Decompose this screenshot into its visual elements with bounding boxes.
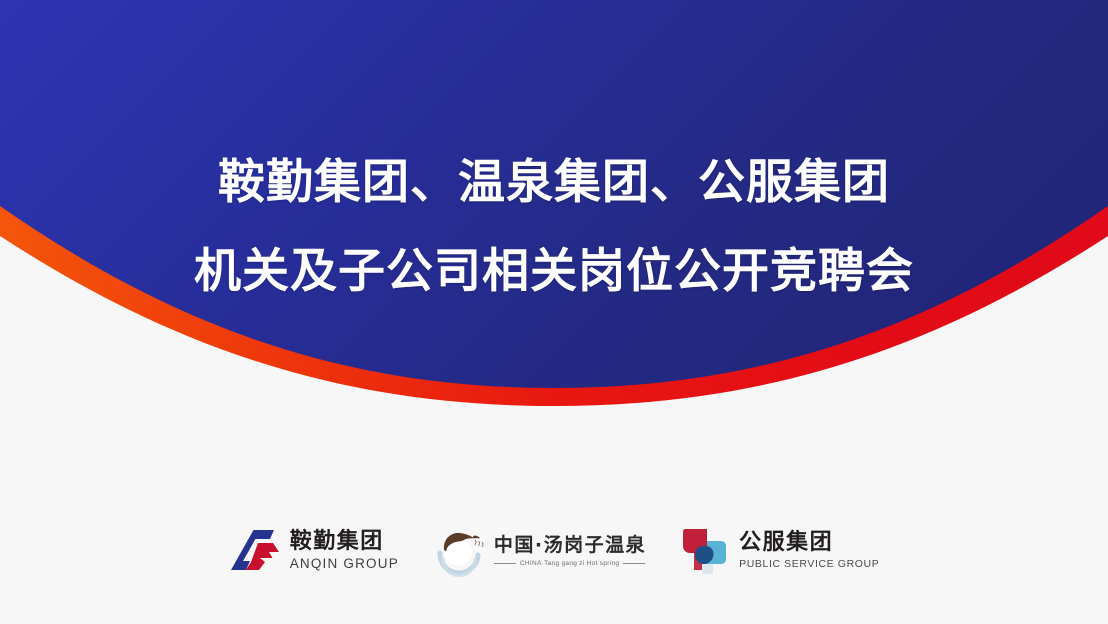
- psg-logo-cn: 公服集团: [739, 531, 879, 555]
- logo-strip: 鞍勤集团 ANQIN GROUP 中国·汤岗子温泉: [0, 516, 1108, 586]
- anqin-a-arrow-icon: [229, 528, 281, 574]
- spring-logo-cn: 中国·汤岗子温泉: [494, 534, 646, 556]
- anqin-logo-en: ANQIN GROUP: [290, 556, 399, 572]
- spring-rule-left: [494, 563, 516, 564]
- logo-public-service-group: 公服集团 PUBLIC SERVICE GROUP: [680, 523, 879, 579]
- hot-spring-circle-fish-icon: [433, 525, 485, 577]
- anqin-logo-cn: 鞍勤集团: [290, 530, 399, 554]
- anqin-logo-text: 鞍勤集团 ANQIN GROUP: [290, 530, 399, 572]
- public-service-petal-icon: [680, 527, 730, 575]
- psg-logo-en: PUBLIC SERVICE GROUP: [739, 558, 879, 571]
- title-line-1: 鞍勤集团、温泉集团、公服集团: [0, 138, 1108, 227]
- logo-tanggangzi-hot-spring: 中国·汤岗子温泉 CHINA·Tang gang zi Hot spring: [433, 523, 646, 579]
- presentation-slide: 鞍勤集团、温泉集团、公服集团 机关及子公司相关岗位公开竞聘会 鞍勤集团 ANQI…: [0, 0, 1108, 624]
- page-title: 鞍勤集团、温泉集团、公服集团 机关及子公司相关岗位公开竞聘会: [0, 138, 1108, 316]
- logo-anqin-group: 鞍勤集团 ANQIN GROUP: [229, 523, 399, 579]
- spring-rule-right: [623, 563, 645, 564]
- spring-logo-text: 中国·汤岗子温泉 CHINA·Tang gang zi Hot spring: [494, 534, 646, 569]
- spring-logo-en: CHINA·Tang gang zi Hot spring: [494, 559, 646, 569]
- psg-logo-text: 公服集团 PUBLIC SERVICE GROUP: [739, 531, 879, 571]
- spring-logo-en-text: CHINA·Tang gang zi Hot spring: [520, 559, 619, 569]
- title-line-2: 机关及子公司相关岗位公开竞聘会: [0, 227, 1108, 316]
